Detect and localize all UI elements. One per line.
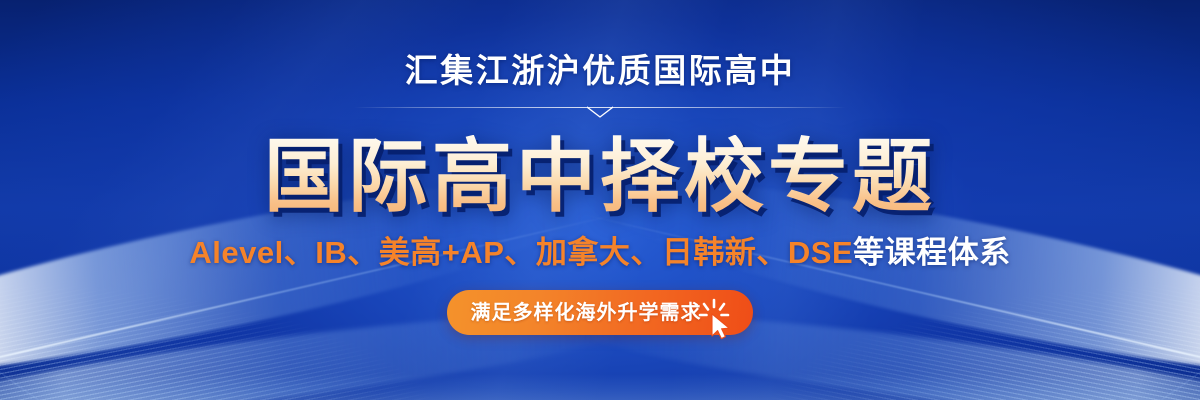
course-list-tail: 等课程体系 xyxy=(853,235,1011,270)
click-cursor-icon xyxy=(695,297,739,341)
cta-button-label: 满足多样化海外升学需求 xyxy=(471,303,702,323)
course-list-highlight: Alevel、IB、美高+AP、加拿大、日韩新、DSE xyxy=(189,235,853,270)
chevron-down-icon xyxy=(587,106,613,119)
banner-eyebrow: 汇集江浙沪优质国际高中 xyxy=(405,54,796,87)
promo-banner: 汇集江浙沪优质国际高中 国际高中择校专题 Alevel、IB、美高+AP、加拿大… xyxy=(0,0,1200,400)
chevron-divider xyxy=(354,105,846,119)
course-list-line: Alevel、IB、美高+AP、加拿大、日韩新、DSE等课程体系 xyxy=(189,237,1010,268)
cta-button[interactable]: 满足多样化海外升学需求 xyxy=(447,290,753,335)
page-title: 国际高中择校专题 xyxy=(264,135,936,219)
banner-content: 汇集江浙沪优质国际高中 国际高中择校专题 Alevel、IB、美高+AP、加拿大… xyxy=(0,0,1200,400)
